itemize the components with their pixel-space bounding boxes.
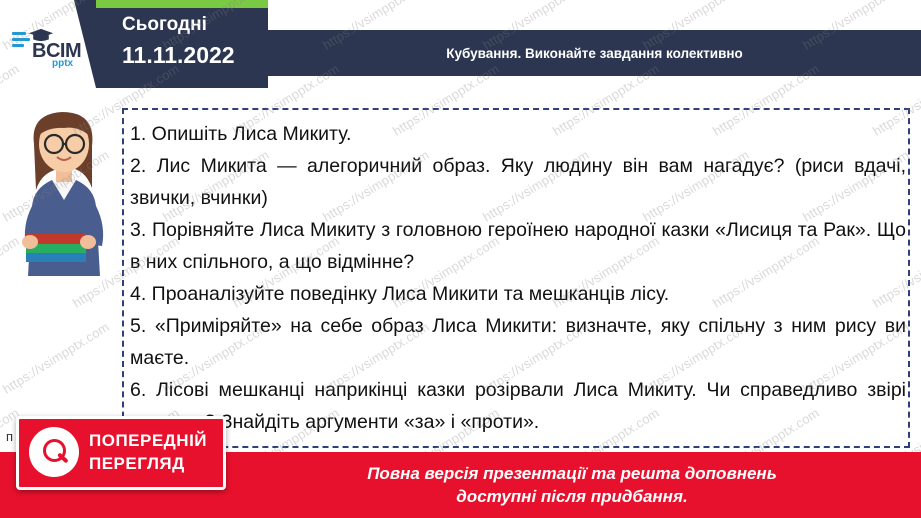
- preview-badge: ПОПЕРЕДНІЙ ПЕРЕГЛЯД: [16, 416, 226, 490]
- logo: BCIM pptx: [12, 24, 96, 72]
- page-title: Кубування. Виконайте завдання колективно: [268, 30, 921, 76]
- logo-bars-icon: [12, 32, 30, 50]
- task-item-1: 1. Опишіть Лиса Микиту.: [130, 118, 906, 150]
- task-list: 1. Опишіть Лиса Микиту. 2. Лис Микита — …: [130, 118, 906, 438]
- obscured-line-1: п: [6, 428, 13, 446]
- watermark-text: https://vsimpptx.com: [0, 319, 112, 397]
- task-item-5: 5. «Приміряйте» на себе образ Лиса Микит…: [130, 310, 906, 374]
- task-item-6: 6. Лісові мешканці наприкінці казки розі…: [130, 374, 906, 438]
- date-chip-accent: [96, 0, 268, 8]
- date-label-today: Сьогодні: [122, 14, 207, 36]
- purchase-banner-line2: доступні після придбання.: [456, 485, 687, 508]
- teacher-illustration: [12, 96, 116, 276]
- slide: https://vsimpptx.comhttps://vsimpptx.com…: [0, 0, 921, 518]
- purchase-banner-line1: Повна версія презентації та решта доповн…: [367, 462, 777, 485]
- purchase-banner-text: Повна версія презентації та решта доповн…: [232, 456, 912, 514]
- task-list-box: 1. Опишіть Лиса Микиту. 2. Лис Микита — …: [122, 108, 910, 448]
- preview-badge-line2: ПЕРЕГЛЯД: [89, 454, 185, 474]
- task-item-3: 3. Порівняйте Лиса Микиту з головною гер…: [130, 214, 906, 278]
- logo-subtext: pptx: [52, 58, 73, 69]
- date-label-value: 11.11.2022: [122, 42, 235, 69]
- title-band: Кубування. Виконайте завдання колективно: [268, 30, 921, 76]
- preview-badge-line1: ПОПЕРЕДНІЙ: [89, 431, 207, 451]
- date-chip: Сьогодні 11.11.2022: [96, 0, 268, 88]
- task-item-2: 2. Лис Микита — алегоричний образ. Яку л…: [130, 150, 906, 214]
- task-item-4: 4. Проаналізуйте поведінку Лиса Микити т…: [130, 278, 906, 310]
